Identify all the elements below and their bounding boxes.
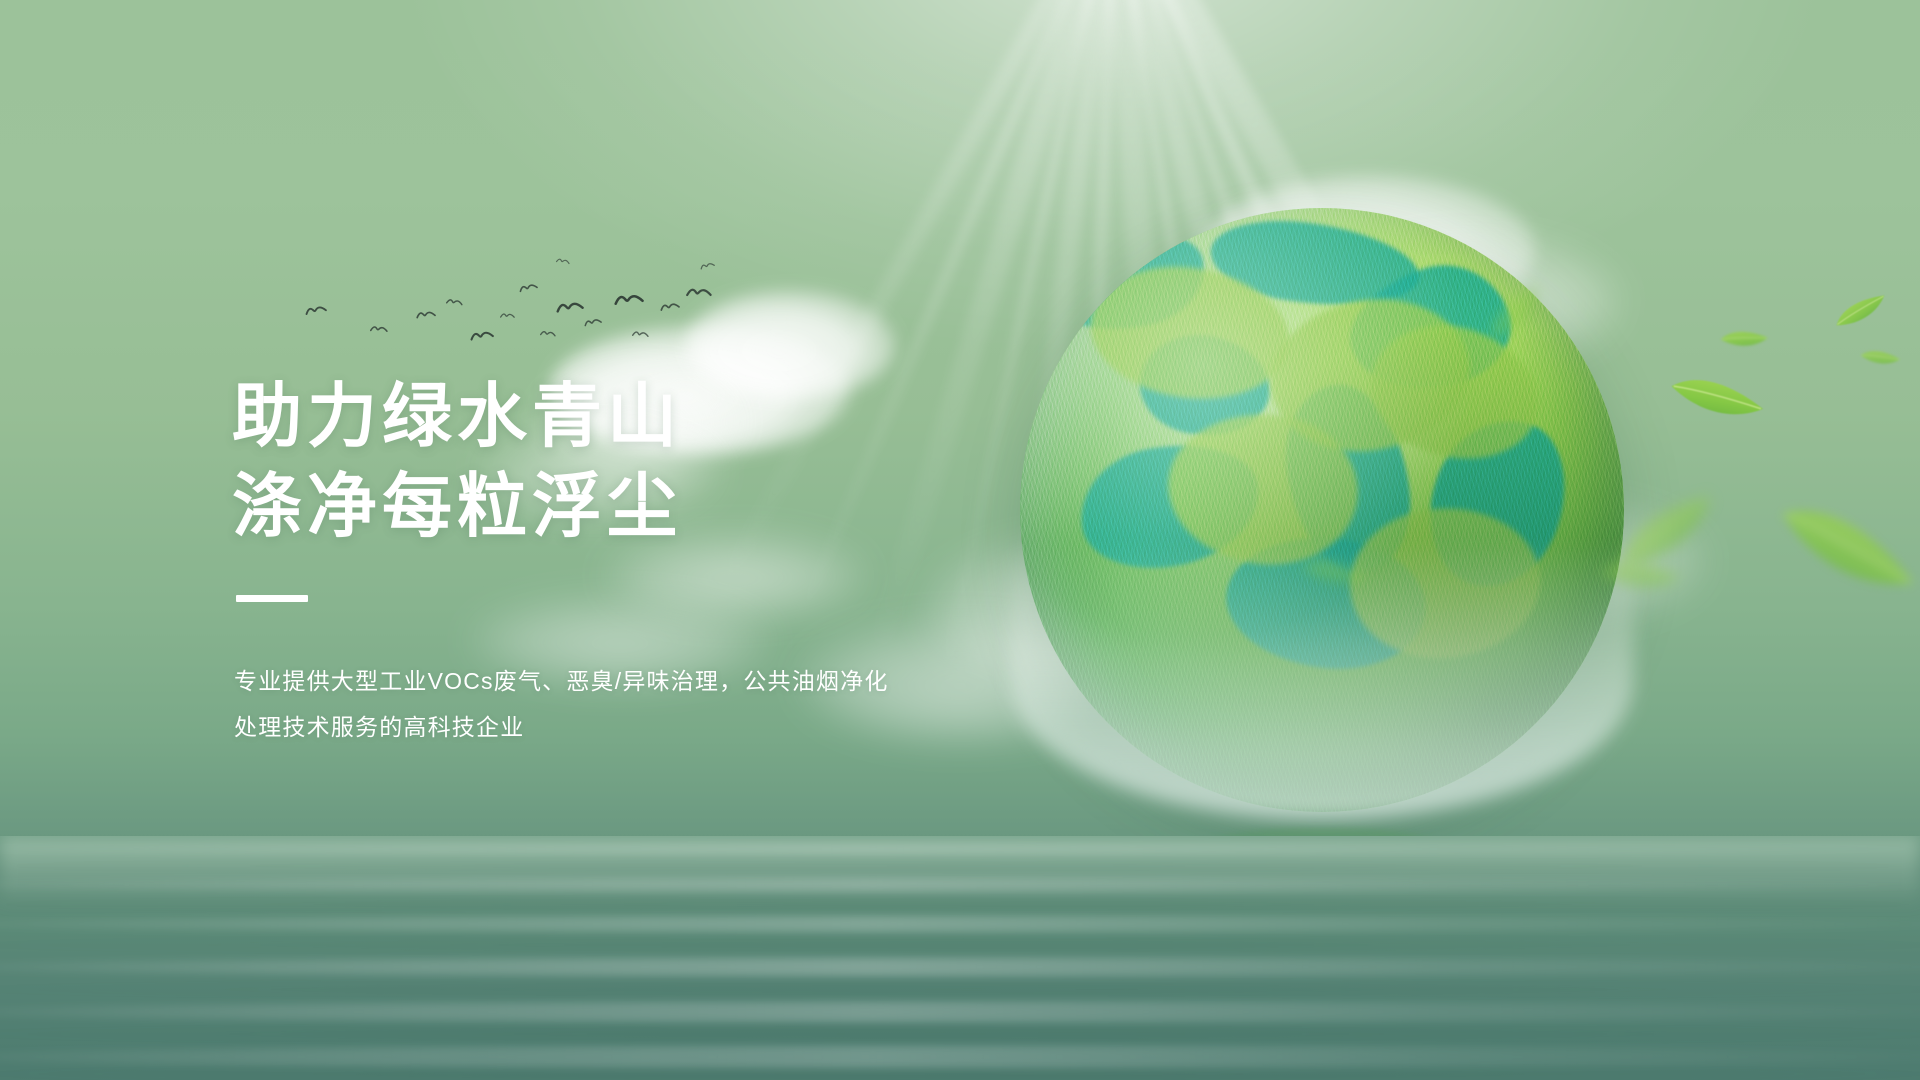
bird-icon-0 (304, 304, 327, 318)
bird-icon-11 (614, 291, 645, 309)
wave-0 (0, 844, 1920, 854)
hero-copy: 助力绿水青山 涤净每粒浮尘 专业提供大型工业VOCs废气、恶臭/异味治理，公共油… (232, 372, 952, 750)
wave-8 (0, 1002, 1920, 1022)
bird-icon-1 (370, 324, 389, 335)
bird-icon-10 (583, 317, 602, 329)
hero-subtitle: 专业提供大型工业VOCs废气、恶臭/异味治理，公共油烟净化处理技术服务的高科技企… (234, 658, 894, 750)
leaf-icon-2 (1718, 325, 1769, 355)
bird-icon-15 (699, 261, 715, 272)
water-surface (0, 836, 1920, 1080)
bird-icon-9 (555, 257, 570, 267)
headline-line-1: 助力绿水青山 (232, 372, 952, 462)
wave-4 (0, 916, 1920, 932)
wave-1 (0, 862, 1920, 870)
bird-icon-3 (445, 297, 463, 309)
bird-icon-5 (500, 311, 516, 320)
bird-icon-14 (686, 285, 713, 300)
wave-5 (0, 940, 1920, 950)
leaf-icon-4 (1768, 478, 1920, 625)
globe-grass-texture (1020, 208, 1624, 812)
bird-icon-13 (659, 301, 680, 313)
hero-banner: 助力绿水青山 涤净每粒浮尘 专业提供大型工业VOCs废气、恶臭/异味治理，公共油… (0, 0, 1920, 1080)
wave-2 (0, 878, 1920, 892)
leaf-icon-1 (1830, 292, 1893, 333)
bird-icon-7 (540, 329, 557, 339)
leaf-icon-3 (1858, 344, 1901, 374)
wave-6 (0, 958, 1920, 976)
bird-icon-2 (416, 309, 437, 320)
wave-11 (0, 1068, 1920, 1080)
wave-10 (0, 1046, 1920, 1068)
wave-7 (0, 984, 1920, 995)
bird-icon-12 (632, 329, 650, 340)
page-title: 助力绿水青山 涤净每粒浮尘 (232, 372, 952, 551)
bird-icon-8 (555, 299, 584, 316)
bird-icon-6 (518, 281, 538, 294)
wave-9 (0, 1028, 1920, 1040)
headline-line-2: 涤净每粒浮尘 (232, 462, 952, 552)
wave-3 (0, 900, 1920, 909)
grass-earth-globe (1020, 208, 1624, 812)
title-divider (236, 595, 308, 602)
leaf-icon-0 (1664, 360, 1768, 440)
bird-icon-4 (469, 329, 494, 343)
globe-sphere (1020, 208, 1624, 812)
